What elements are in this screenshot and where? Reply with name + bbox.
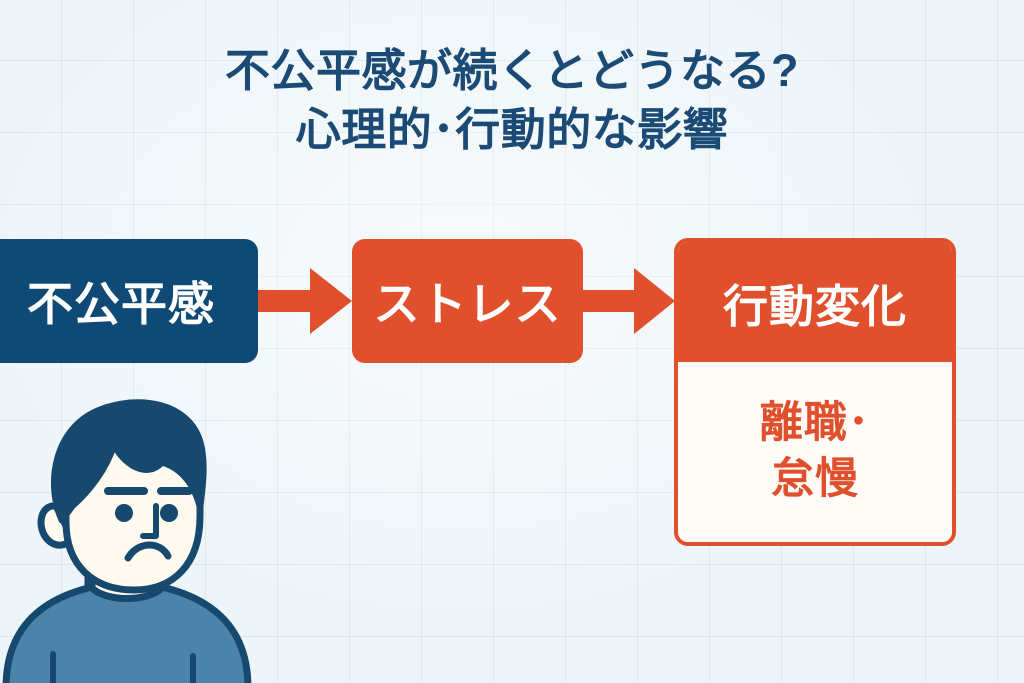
- flow-step-behavior-label: 行動変化: [723, 270, 907, 335]
- title-line-2: 心理的･行動的な影響: [0, 101, 1024, 160]
- flow-step-stress[interactable]: ストレス: [352, 239, 583, 363]
- flow-step-behavior[interactable]: 行動変化 離職･ 怠慢: [674, 238, 956, 546]
- behavior-detail-line-2: 怠慢: [760, 452, 871, 508]
- flow-step-behavior-header: 行動変化: [678, 242, 952, 362]
- title-line-1: 不公平感が続くとどうなる?: [225, 45, 799, 96]
- flow-step-unfairness-label: 不公平感: [27, 268, 215, 334]
- flow-step-unfairness[interactable]: 不公平感: [0, 239, 258, 363]
- worried-man-illustration: [0, 388, 296, 683]
- flow-step-stress-label: ストレス: [374, 268, 562, 334]
- arrow-right-icon: [258, 262, 354, 340]
- behavior-detail-line-1: 離職･: [760, 396, 871, 452]
- behavior-detail-text: 離職･ 怠慢: [760, 396, 871, 508]
- flow-step-behavior-detail: 離職･ 怠慢: [678, 362, 952, 542]
- slide-canvas: 不公平感が続くとどうなる? 心理的･行動的な影響 不公平感 ストレス 行動変化 …: [0, 0, 1024, 683]
- arrow-right-icon: [583, 262, 677, 340]
- page-title: 不公平感が続くとどうなる? 心理的･行動的な影響: [0, 42, 1024, 159]
